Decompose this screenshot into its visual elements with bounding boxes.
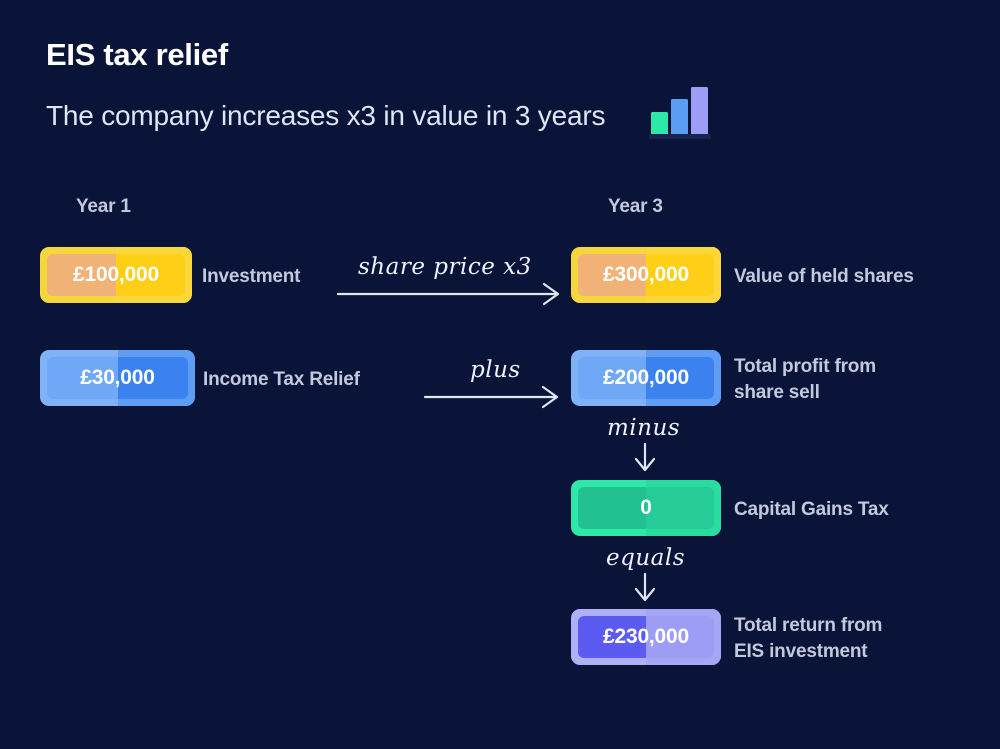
pill-total-profit: £200,000 [571,350,721,406]
connector-label-plus: plus [470,357,521,383]
pill-total-profit-inner: £200,000 [578,357,714,399]
pill-investment-inner: £100,000 [47,254,185,296]
connector-arrow-plus [425,381,565,409]
bar-chart-icon [649,84,711,147]
connector-label-minus: minus [607,415,680,441]
connector-arrow-equals [630,574,660,606]
connector-label-share-price-x3: share price x3 [358,254,532,280]
pill-value-of-held-shares-value: £300,000 [603,263,689,287]
column-label-year-3: Year 3 [608,196,663,218]
column-label-year-1: Year 1 [76,196,131,218]
row-label-total-return-line-1: Total return from [734,613,882,639]
row-label-total-return-line-2: EIS investment [734,639,882,665]
row-label-income-tax-relief: Income Tax Relief [203,367,360,393]
pill-value-of-held-shares-inner: £300,000 [578,254,714,296]
pill-income-tax-relief-inner: £30,000 [47,357,188,399]
pill-investment-value: £100,000 [73,263,159,287]
row-label-investment: Investment [202,264,300,290]
pill-income-tax-relief-value: £30,000 [80,366,155,390]
pill-value-of-held-shares: £300,000 [571,247,721,303]
connector-label-equals: equals [606,545,685,571]
subtitle-row: The company increases x3 in value in 3 y… [46,84,956,147]
pill-total-return-value: £230,000 [603,625,689,649]
row-label-capital-gains-tax: Capital Gains Tax [734,497,889,523]
row-label-total-profit: Total profit from share sell [734,354,876,406]
header: EIS tax relief The company increases x3 … [46,38,956,147]
connector-arrow-share-price-x3 [338,278,566,306]
pill-capital-gains-tax-inner: 0 [578,487,714,529]
pill-total-profit-value: £200,000 [603,366,689,390]
page-title: EIS tax relief [46,38,956,72]
pill-investment: £100,000 [40,247,192,303]
row-label-value-of-held-shares: Value of held shares [734,264,914,290]
pill-capital-gains-tax: 0 [571,480,721,536]
row-label-total-profit-line-1: Total profit from [734,354,876,380]
row-label-total-return: Total return from EIS investment [734,613,882,665]
pill-total-return-inner: £230,000 [578,616,714,658]
page-subtitle: The company increases x3 in value in 3 y… [46,100,605,132]
pill-income-tax-relief: £30,000 [40,350,195,406]
pill-total-return: £230,000 [571,609,721,665]
connector-arrow-minus [630,444,660,476]
pill-capital-gains-tax-value: 0 [640,496,651,520]
row-label-total-profit-line-2: share sell [734,380,876,406]
